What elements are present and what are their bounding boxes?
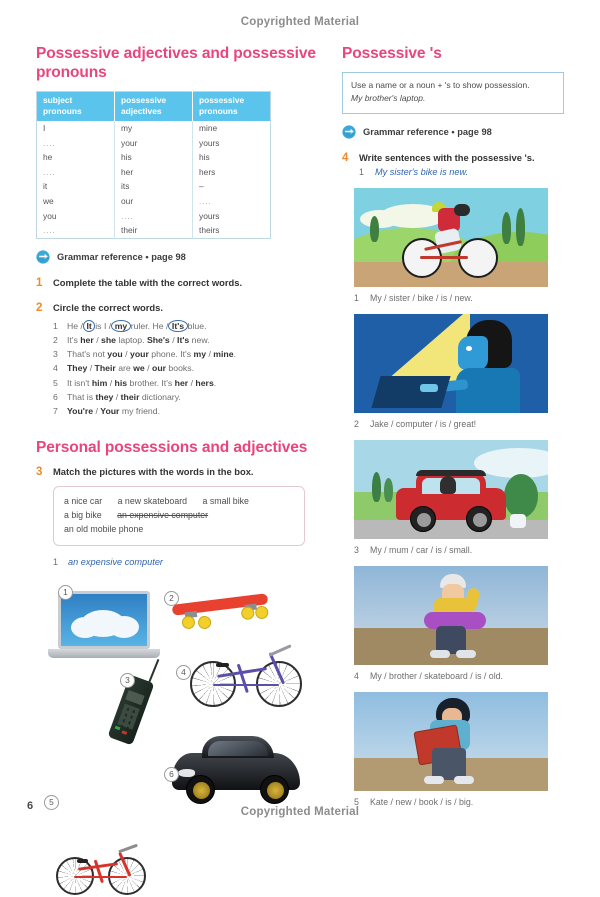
cell-pronoun-blank[interactable]: ....: [193, 194, 271, 209]
prompt-text[interactable]: My / sister / bike / is / new.: [370, 293, 473, 303]
prompt-number: 2: [354, 419, 362, 429]
boy-body: [456, 368, 520, 413]
dirt-path: [354, 262, 548, 287]
prompt-text[interactable]: Kate / new / book / is / big.: [370, 797, 473, 807]
page-number: 6: [27, 800, 33, 812]
car-wheel: [186, 775, 215, 804]
phone-call-key: [115, 725, 121, 730]
phone-end-key: [122, 730, 128, 735]
bicycle-frame-bar: [237, 663, 249, 692]
cell-subject-blank[interactable]: ....: [37, 136, 115, 151]
car-wheel: [260, 775, 289, 804]
pronoun-table: subject pronouns possessive adjectives p…: [36, 91, 271, 238]
section-heading-possessives: Possessive adjectives and possessive pro…: [36, 44, 324, 82]
exercise-2-items: 1 He /Itis I /myruler. He /It'sblue. 2 I…: [53, 319, 324, 418]
picture-red-bicycle: [52, 839, 152, 897]
item-text[interactable]: It isn't him / his brother. It's her / h…: [67, 376, 216, 390]
cell-pronoun: yours: [193, 136, 271, 151]
car-rim: [473, 513, 487, 527]
bicycle-frame-bar: [94, 859, 104, 883]
picture-skateboard: [172, 599, 268, 610]
illustration-girl-carrying-big-book: [354, 692, 548, 791]
illustration-boy-holding-skateboard: [354, 566, 548, 665]
car-headlight: [178, 769, 195, 777]
column-header-possessive-pronouns: possessive pronouns: [193, 92, 271, 121]
cell-subject-blank[interactable]: ....: [37, 165, 115, 180]
boy-face: [458, 336, 488, 370]
cypress-tree: [372, 472, 381, 502]
bicycle-handlebar: [118, 843, 138, 852]
exercise-3-answer-1: 1 an expensive computer: [53, 557, 324, 567]
car-roof-trim: [416, 470, 486, 476]
exercise-4-example: 1 My sister's bike is new.: [359, 167, 564, 177]
shoe: [454, 776, 474, 784]
arrow-circle-icon: [342, 125, 356, 139]
driver-head: [440, 476, 456, 494]
cell-pronoun: yours: [193, 209, 271, 224]
laptop-base: [48, 649, 160, 658]
phone-display: [125, 690, 144, 705]
item-number: 2: [53, 333, 60, 347]
list-item[interactable]: 2 It's her / she laptop. She's / It's ne…: [53, 333, 324, 347]
exercise-4-number: 4: [342, 152, 352, 178]
cypress-tree: [370, 216, 379, 242]
left-column: Possessive adjectives and possessive pro…: [36, 44, 324, 829]
list-item[interactable]: 7 You're / Your my friend.: [53, 404, 324, 418]
cell-pronoun: theirs: [193, 223, 271, 238]
table-row: I my mine: [37, 121, 271, 136]
column-header-possessive-adjectives: possessive adjectives: [115, 92, 193, 121]
exercise-4-prompt-2: 2 Jake / computer / is / great!: [354, 419, 564, 429]
cypress-tree: [502, 212, 511, 244]
prompt-number: 5: [354, 797, 362, 807]
item-number: 7: [53, 404, 60, 418]
table-row: .... her hers: [37, 165, 271, 180]
illustration-girl-riding-bike: [354, 188, 548, 287]
car-body: [172, 753, 300, 790]
prompt-text[interactable]: Jake / computer / is / great!: [370, 419, 476, 429]
word-option[interactable]: a small bike: [203, 496, 249, 506]
scene: [354, 314, 548, 413]
picture-badge-4[interactable]: 4: [176, 665, 191, 680]
picture-black-car: [172, 753, 300, 790]
exercise-2-number: 2: [36, 302, 46, 417]
word-option-used[interactable]: an expensive computer: [117, 510, 208, 520]
bush: [504, 474, 538, 518]
table-row: you .... yours: [37, 209, 271, 224]
cell-subject: he: [37, 150, 115, 165]
scene: [354, 692, 548, 791]
arrow-circle-icon: [36, 250, 50, 264]
list-item[interactable]: 5 It isn't him / his brother. It's her /…: [53, 376, 324, 390]
hand: [420, 384, 438, 392]
scene: [354, 188, 548, 287]
column-header-subject-pronouns: subject pronouns: [37, 92, 115, 121]
cloud-shape: [71, 617, 99, 638]
list-item[interactable]: 3 That's not you / your phone. It's my /…: [53, 347, 324, 361]
section-heading-personal-possessions: Personal possessions and adjectives: [36, 438, 324, 457]
illustration-woman-driving-red-car: [354, 440, 548, 539]
grammar-reference-label: Grammar reference • page 98: [363, 127, 492, 137]
item-text[interactable]: You're / Your my friend.: [67, 404, 160, 418]
exercise-3: 3 Match the pictures with the words in t…: [36, 466, 324, 567]
shoe: [430, 650, 450, 658]
exercise-4-prompt-5: 5 Kate / new / book / is / big.: [354, 797, 564, 807]
bicycle-handlebar: [269, 644, 292, 656]
example-text: My sister's bike is new.: [375, 167, 468, 177]
laptop-screen: [58, 591, 150, 649]
word-box: a nice car a new skateboard a small bike…: [53, 486, 305, 546]
word-option[interactable]: a big bike: [64, 510, 102, 520]
table-header-row: subject pronouns possessive adjectives p…: [37, 92, 271, 121]
cell-adjective: their: [115, 223, 193, 238]
prompt-text[interactable]: My / mum / car / is / small.: [370, 545, 472, 555]
cell-adjective-blank[interactable]: ....: [115, 209, 193, 224]
prompt-number: 1: [354, 293, 362, 303]
exercise-4: 4 Write sentences with the possessive 's…: [342, 152, 564, 178]
item-text[interactable]: It's her / she laptop. She's / It's new.: [67, 333, 210, 347]
exercise-1: 1 Complete the table with the correct wo…: [36, 277, 324, 290]
phone-antenna: [148, 659, 160, 684]
skateboard-deck: [172, 593, 269, 616]
thumbs-up-icon: [510, 514, 526, 528]
picture-purple-bicycle: [184, 637, 310, 709]
car-windscreen: [208, 741, 268, 756]
picture-badge-5[interactable]: 5: [44, 795, 59, 810]
item-text[interactable]: He /Itis I /myruler. He /It'sblue.: [67, 319, 206, 333]
info-box-example: My brother's laptop.: [351, 92, 555, 105]
bicycle-frame-bar: [420, 256, 468, 259]
cypress-tree: [384, 478, 393, 502]
example-number: 1: [359, 167, 367, 177]
exercise-3-number: 3: [36, 466, 46, 567]
grammar-reference-link-right[interactable]: Grammar reference • page 98: [342, 125, 564, 139]
shoe: [424, 776, 444, 784]
cloud-shape: [109, 616, 139, 638]
list-item[interactable]: 6 That is they / their dictionary.: [53, 390, 324, 404]
cypress-tree: [516, 208, 525, 246]
scene: [354, 440, 548, 539]
word-option[interactable]: a new skateboard: [118, 496, 187, 506]
car-rim: [193, 782, 210, 799]
cell-adjective: my: [115, 121, 193, 136]
possessive-s-info-box: Use a name or a noun + 's to show posses…: [342, 72, 564, 113]
picture-badge-2[interactable]: 2: [164, 591, 179, 606]
rider-hair: [454, 204, 470, 216]
item-text[interactable]: That is they / their dictionary.: [67, 390, 181, 404]
list-item[interactable]: 1 He /Itis I /myruler. He /It'sblue.: [53, 319, 324, 333]
table-row: .... your yours: [37, 136, 271, 151]
grammar-reference-label: Grammar reference • page 98: [57, 252, 186, 262]
exercise-2: 2 Circle the correct words. 1 He /Itis I…: [36, 302, 324, 417]
car-rim: [267, 782, 284, 799]
picture-laptop-computer: [58, 591, 160, 658]
list-item[interactable]: 4 They / Their are we / our books.: [53, 361, 324, 375]
prompt-number: 4: [354, 671, 362, 681]
exercise-4-prompt-3: 3 My / mum / car / is / small.: [354, 545, 564, 555]
item-number: 6: [53, 390, 60, 404]
cell-subject-blank[interactable]: ....: [37, 223, 115, 238]
cell-pronoun: his: [193, 150, 271, 165]
scene: [354, 566, 548, 665]
possessions-picture-collage: 1 2: [36, 577, 324, 829]
laptop: [371, 376, 450, 408]
exercise-4-prompt-4: 4 My / brother / skateboard / is / old.: [354, 671, 564, 681]
cell-pronoun: hers: [193, 165, 271, 180]
item-number: 4: [53, 361, 60, 375]
prompt-text[interactable]: My / brother / skateboard / is / old.: [370, 671, 503, 681]
right-column: Possessive 's Use a name or a noun + 's …: [342, 44, 564, 807]
table-row: .... their theirs: [37, 223, 271, 238]
prompt-number: 3: [354, 545, 362, 555]
picture-badge-6[interactable]: 6: [164, 767, 179, 782]
bicycle-seat: [216, 663, 229, 667]
table-row: he his his: [37, 150, 271, 165]
exercise-1-instruction: Complete the table with the correct word…: [53, 277, 324, 289]
item-text[interactable]: They / Their are we / our books.: [67, 361, 194, 375]
cell-subject: you: [37, 209, 115, 224]
bicycle-seat: [77, 859, 88, 863]
table-row: it its –: [37, 179, 271, 194]
workbook-page: Copyrighted Material Copyrighted Materia…: [0, 0, 600, 841]
grammar-reference-link-left[interactable]: Grammar reference • page 98: [36, 250, 324, 264]
cell-subject: I: [37, 121, 115, 136]
exercise-1-number: 1: [36, 277, 46, 290]
skateboard-wheel: [197, 615, 211, 629]
answer-number: 1: [53, 557, 60, 567]
item-number: 1: [53, 319, 60, 333]
exercise-2-instruction: Circle the correct words.: [53, 302, 324, 314]
word-option[interactable]: an old mobile phone: [64, 524, 143, 534]
cell-subject: we: [37, 194, 115, 209]
section-heading-possessive-s: Possessive 's: [342, 44, 564, 63]
item-number: 5: [53, 376, 60, 390]
item-text[interactable]: That's not you / your phone. It's my / m…: [67, 347, 236, 361]
word-option[interactable]: a nice car: [64, 496, 102, 506]
answer-text[interactable]: an expensive computer: [68, 557, 163, 567]
copyright-watermark-top: Copyrighted Material: [0, 16, 600, 28]
cell-subject: it: [37, 179, 115, 194]
picture-badge-3[interactable]: 3: [120, 673, 135, 688]
cell-pronoun: –: [193, 179, 271, 194]
skateboard-wheel: [255, 605, 269, 619]
cell-adjective: her: [115, 165, 193, 180]
cell-adjective: your: [115, 136, 193, 151]
cell-adjective: his: [115, 150, 193, 165]
cell-pronoun: mine: [193, 121, 271, 136]
shoe: [456, 650, 476, 658]
exercise-4-instruction: Write sentences with the possessive 's.: [359, 152, 564, 164]
cell-adjective: its: [115, 179, 193, 194]
exercise-3-instruction: Match the pictures with the words in the…: [53, 466, 324, 478]
phone-keypad: [117, 703, 140, 729]
picture-badge-1[interactable]: 1: [58, 585, 73, 600]
info-box-line-1: Use a name or a noun + 's to show posses…: [351, 79, 555, 92]
car-rim: [417, 513, 431, 527]
cell-adjective: our: [115, 194, 193, 209]
illustration-boy-at-laptop: [354, 314, 548, 413]
item-number: 3: [53, 347, 60, 361]
table-row: we our ....: [37, 194, 271, 209]
exercise-4-prompt-1: 1 My / sister / bike / is / new.: [354, 293, 564, 303]
